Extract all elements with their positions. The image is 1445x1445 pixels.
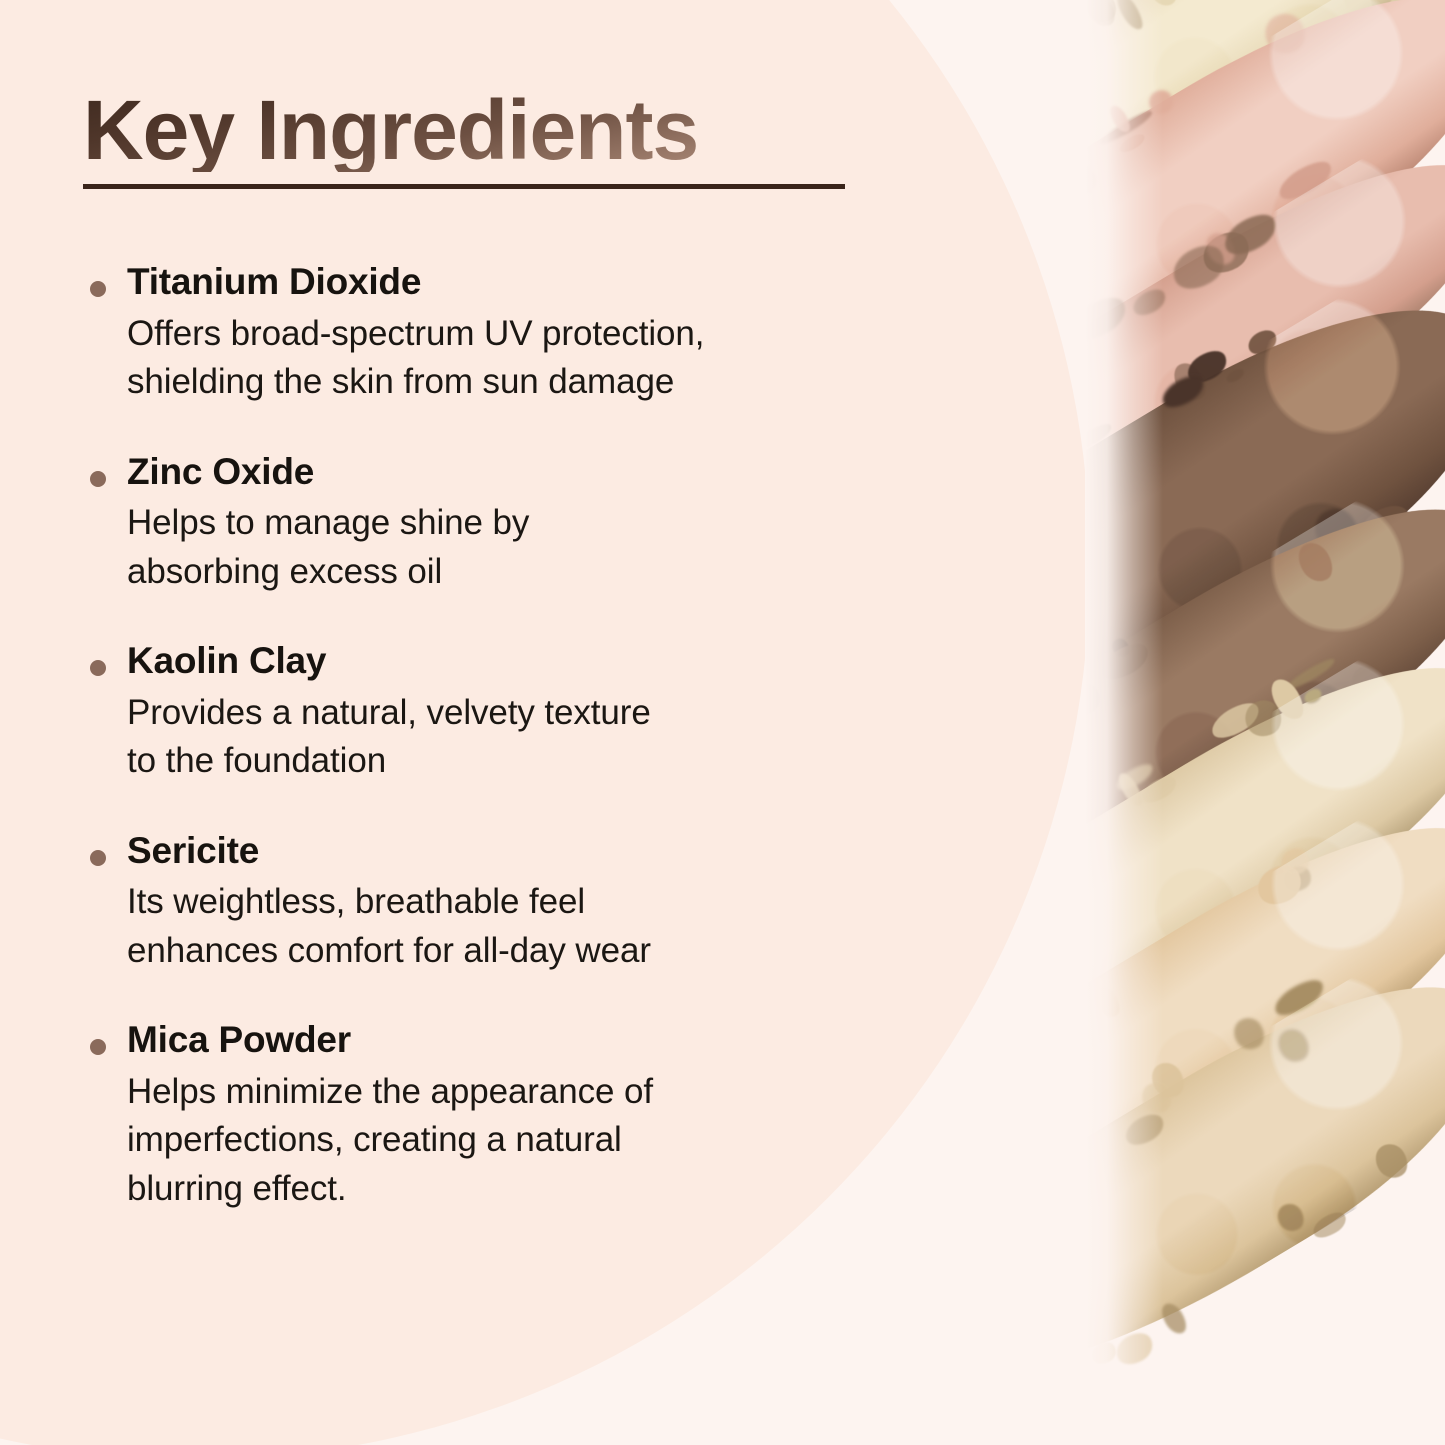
powder-crumb [1088,1338,1119,1368]
powder-crumb [1085,820,1089,875]
powder-crumb [1085,160,1102,202]
powder-crumb [1272,1024,1314,1068]
page-title-block: Key Ingredients [83,88,845,189]
ingredient-list: Titanium Dioxide Offers broad-spectrum U… [83,261,1085,1213]
powder-crumb [1085,0,1120,31]
powder-crumb [1085,0,1121,28]
powder-swatch-image [1085,0,1445,1445]
ingredient-name: Zinc Oxide [127,451,1085,494]
list-item: Sericite Its weightless, breathable feel… [83,830,1085,976]
powder-crumb [1085,677,1106,720]
title-underline [83,184,845,189]
ingredient-name: Mica Powder [127,1019,1085,1062]
powder-crumb [1280,861,1316,896]
ingredient-name: Kaolin Clay [127,640,1085,683]
bullet-dot-icon [90,471,106,487]
bullet-dot-icon [90,660,106,676]
powder-crumb [1117,131,1147,156]
powder-crumb [1370,1139,1413,1184]
powder-crumb [1121,1109,1169,1152]
powder-crumb [1157,1300,1191,1338]
bullet-dot-icon [90,281,106,297]
powder-crumb [1292,537,1338,587]
ingredient-description: Offers broad-spectrum UV protection, shi… [127,310,1085,407]
ingredient-description: Provides a natural, velvety texture to t… [127,689,1085,786]
ingredient-description: Its weightless, breathable feel enhances… [127,878,1085,975]
ingredient-name: Titanium Dioxide [127,261,1085,304]
content-column: Key Ingredients Titanium Dioxide Offers … [0,0,1085,1445]
powder-crumb [1112,0,1146,33]
list-item: Zinc Oxide Helps to manage shine by abso… [83,451,1085,597]
ingredient-name: Sericite [127,830,1085,873]
powder-crumb [1273,1199,1309,1236]
ingredient-description: Helps minimize the appearance of imperfe… [127,1068,1085,1213]
list-item: Kaolin Clay Provides a natural, velvety … [83,640,1085,786]
page-title: Key Ingredients [83,88,845,172]
list-item: Titanium Dioxide Offers broad-spectrum U… [83,261,1085,407]
bullet-dot-icon [90,850,106,866]
key-ingredients-infographic: Key Ingredients Titanium Dioxide Offers … [0,0,1445,1445]
powder-crumb [1143,0,1182,10]
bullet-dot-icon [90,1039,106,1055]
powder-crumb [1085,158,1100,208]
powder-crumb [1111,1327,1158,1371]
list-item: Mica Powder Helps minimize the appearanc… [83,1019,1085,1213]
powder-crumb [1085,821,1087,859]
powder-crumb [1309,1207,1350,1242]
ingredient-description: Helps to manage shine by absorbing exces… [127,499,1085,596]
powder-crumb [1089,982,1124,1021]
powder-crumb [1225,366,1246,384]
